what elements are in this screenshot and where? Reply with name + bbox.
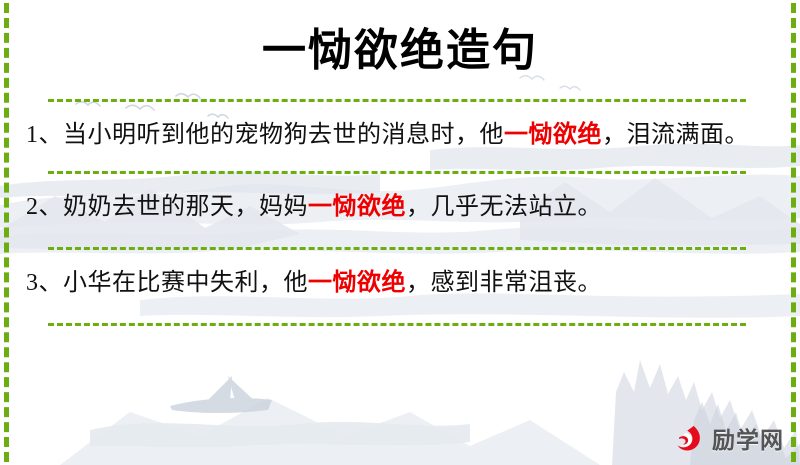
site-logo-text: 励学网 (712, 429, 784, 452)
sentence-1-index: 1、 (26, 122, 63, 148)
sentence-3-before: 小华在比赛中失利，他 (63, 270, 308, 296)
sentence-item-2: 2、奶奶去世的那天，妈妈一恸欲绝，几乎无法站立。 (22, 174, 778, 226)
sentence-2-before: 奶奶去世的那天，妈妈 (63, 194, 308, 220)
sentence-3-keyword: 一恸欲绝 (308, 270, 406, 296)
sentence-1-before: 当小明听到他的宠物狗去世的消息时，他 (63, 122, 504, 148)
site-logo: 励学网 (672, 423, 784, 457)
content-column: 一恸欲绝造句 1、当小明听到他的宠物狗去世的消息时，他一恸欲绝，泪流满面。 2、… (0, 0, 800, 465)
sentence-item-1: 1、当小明听到他的宠物狗去世的消息时，他一恸欲绝，泪流满面。 (22, 102, 778, 154)
sentence-2-index: 2、 (26, 194, 63, 220)
flame-swirl-icon (672, 423, 706, 457)
sentence-item-3: 3、小华在比赛中失利，他一恸欲绝，感到非常沮丧。 (22, 250, 778, 302)
sentence-1-after: ，泪流满面。 (602, 122, 749, 148)
divider-bottom (48, 323, 746, 326)
sentence-1-keyword: 一恸欲绝 (504, 122, 602, 148)
sentence-2-keyword: 一恸欲绝 (308, 194, 406, 220)
sentence-2-after: ，几乎无法站立。 (406, 194, 602, 220)
page-root: 一恸欲绝造句 1、当小明听到他的宠物狗去世的消息时，他一恸欲绝，泪流满面。 2、… (0, 0, 800, 465)
sentence-3-after: ，感到非常沮丧。 (406, 270, 602, 296)
sentence-3-index: 3、 (26, 270, 63, 296)
page-title: 一恸欲绝造句 (22, 0, 778, 73)
